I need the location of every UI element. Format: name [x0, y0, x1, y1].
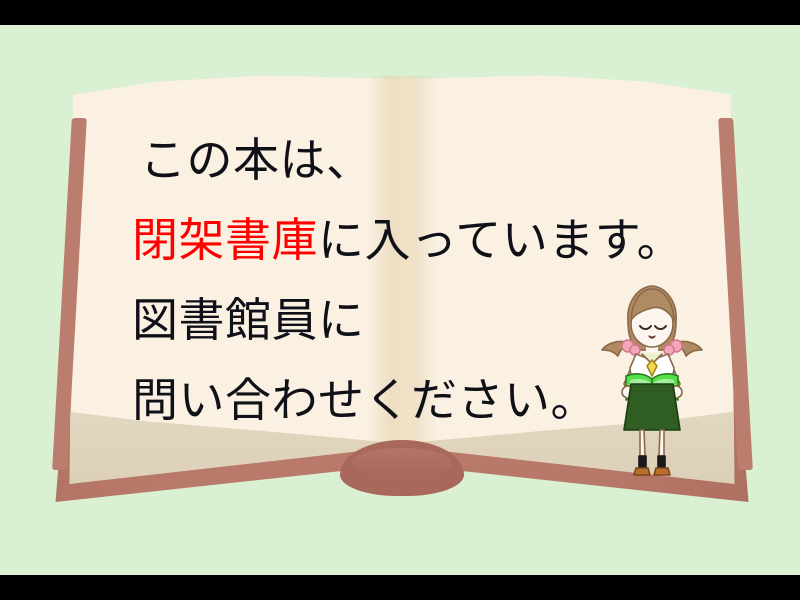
slide-canvas: この本は、 閉架書庫に入っています。 図書館員に 問い合わせください。	[0, 25, 800, 575]
book-spine-highlight	[352, 448, 452, 478]
librarian-girl-icon	[598, 280, 706, 480]
slide-root: この本は、 閉架書庫に入っています。 図書館員に 問い合わせください。	[0, 0, 800, 600]
letterbox-bar-bottom	[0, 575, 800, 600]
letterbox-bar-top	[0, 0, 800, 25]
